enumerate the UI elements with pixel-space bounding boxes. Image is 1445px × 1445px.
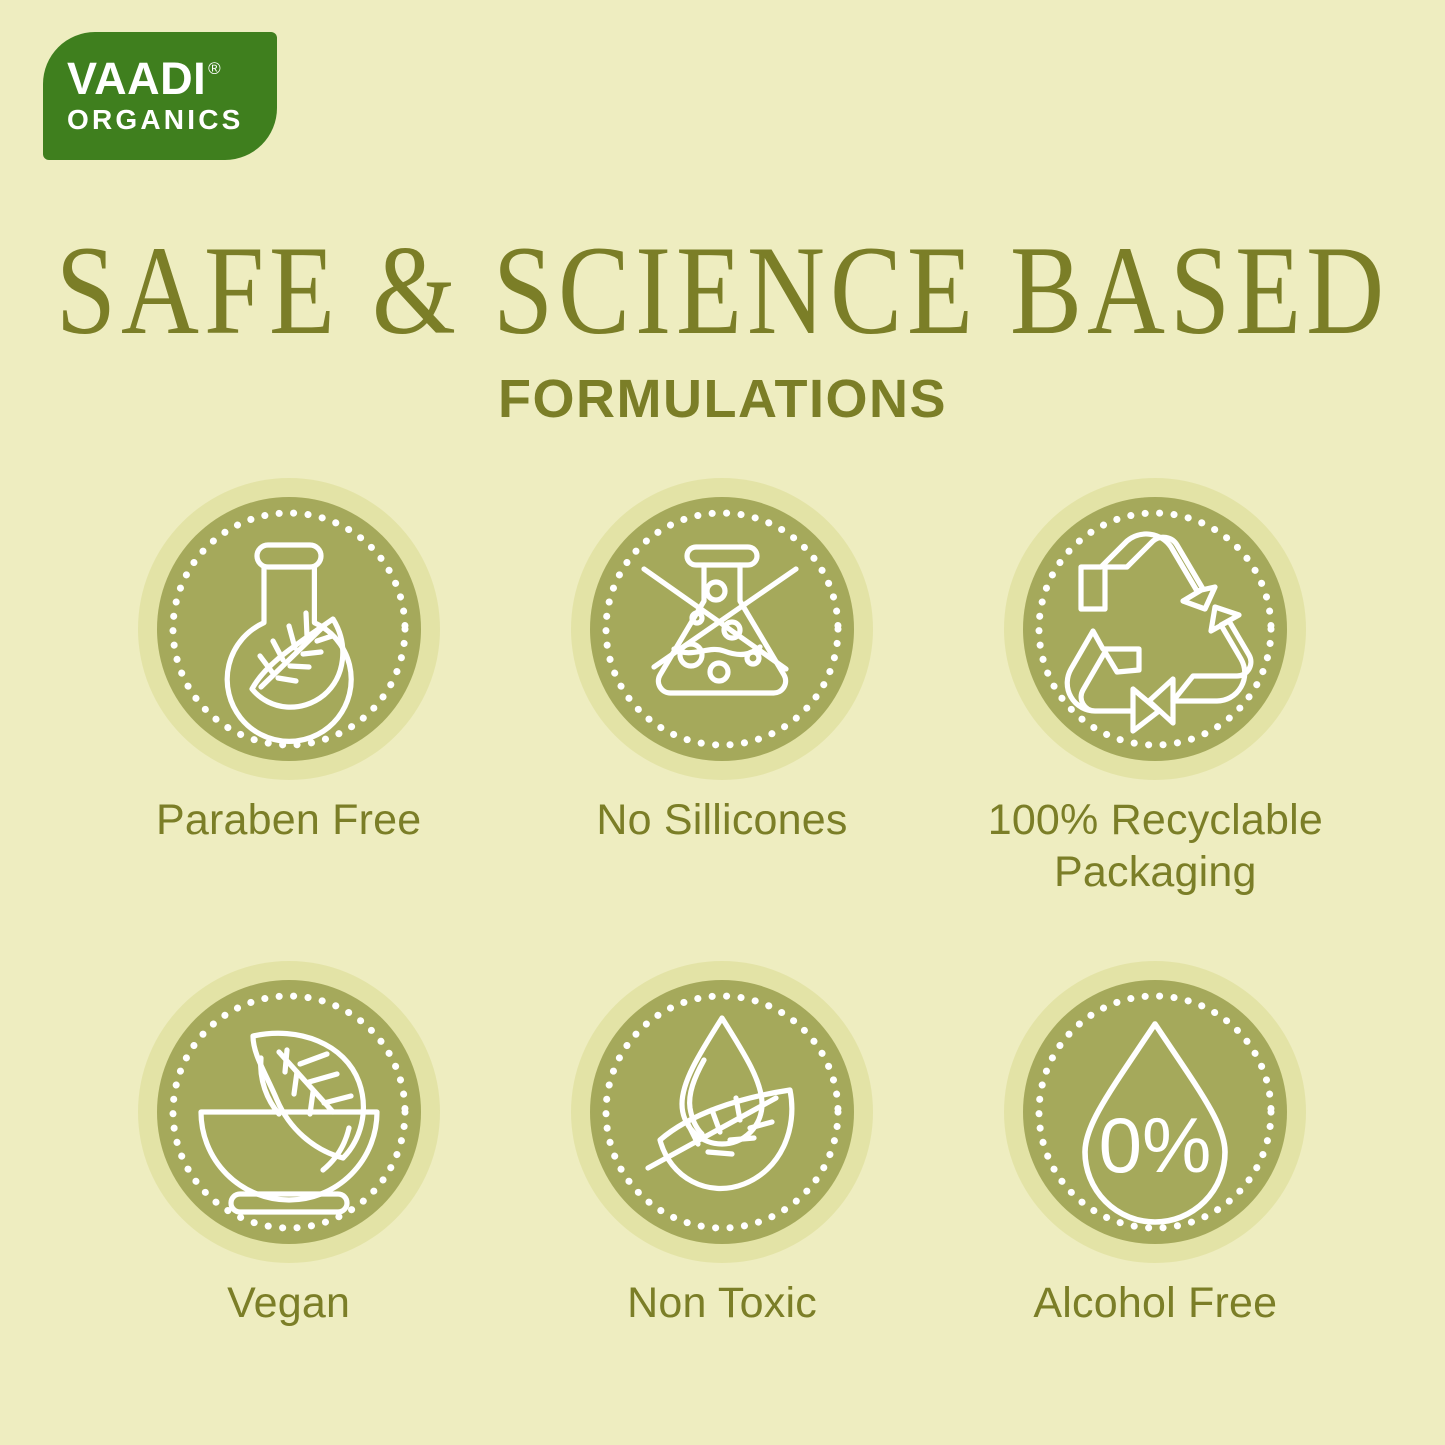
feature-badge [571, 961, 873, 1263]
brand-tagline: ORGANICS [67, 106, 244, 134]
mortar-bowl-leaf-icon [157, 980, 421, 1244]
droplet-zero-percent-icon: 0% [1023, 980, 1287, 1244]
feature-badge [138, 961, 440, 1263]
feature-label-line1: Non Toxic [627, 1279, 817, 1327]
feature-label-line2: Packaging [988, 846, 1323, 898]
feature-badge [1004, 478, 1306, 780]
feature-label: Paraben Free [156, 794, 421, 846]
feature-item-vegan: Vegan [72, 961, 505, 1329]
droplet-leaf-icon [590, 980, 854, 1244]
feature-label: Non Toxic [627, 1277, 817, 1329]
feature-label-line1: 100% Recyclable [988, 794, 1323, 846]
feature-label: Vegan [227, 1277, 350, 1329]
feature-label: No Sillicones [596, 794, 847, 846]
no-silicones-flask-crossed-icon [590, 497, 854, 761]
registered-trademark-icon: ® [208, 60, 221, 77]
feature-label-line1: Alcohol Free [1033, 1279, 1277, 1327]
feature-badge [571, 478, 873, 780]
feature-item-non-toxic: Non Toxic [505, 961, 938, 1329]
flask-leaf-icon [157, 497, 421, 761]
feature-label: Alcohol Free [1033, 1277, 1277, 1329]
feature-item-paraben-free: Paraben Free [72, 478, 505, 899]
feature-label-line1: Vegan [227, 1279, 350, 1327]
feature-label-line1: No Sillicones [596, 796, 847, 844]
feature-item-alcohol-free: 0% Alcohol Free [939, 961, 1372, 1329]
feature-item-recyclable-packaging: 100% Recyclable Packaging [939, 478, 1372, 899]
droplet-value-label: 0% [1099, 1101, 1212, 1189]
recycle-icon [1023, 497, 1287, 761]
page-subtitle: FORMULATIONS [0, 372, 1445, 426]
feature-badge [138, 478, 440, 780]
page-title: SAFE & SCIENCE BASED [0, 228, 1445, 355]
feature-badge: 0% [1004, 961, 1306, 1263]
brand-logo: VAADI ® ORGANICS [43, 32, 277, 160]
feature-label-line1: Paraben Free [156, 796, 421, 844]
brand-logo-wordmark: VAADI ® [67, 58, 221, 101]
feature-label: 100% Recyclable Packaging [988, 794, 1323, 899]
feature-grid: Paraben Free [72, 478, 1372, 1329]
brand-name: VAADI [67, 58, 206, 101]
feature-item-no-sillicones: No Sillicones [505, 478, 938, 899]
